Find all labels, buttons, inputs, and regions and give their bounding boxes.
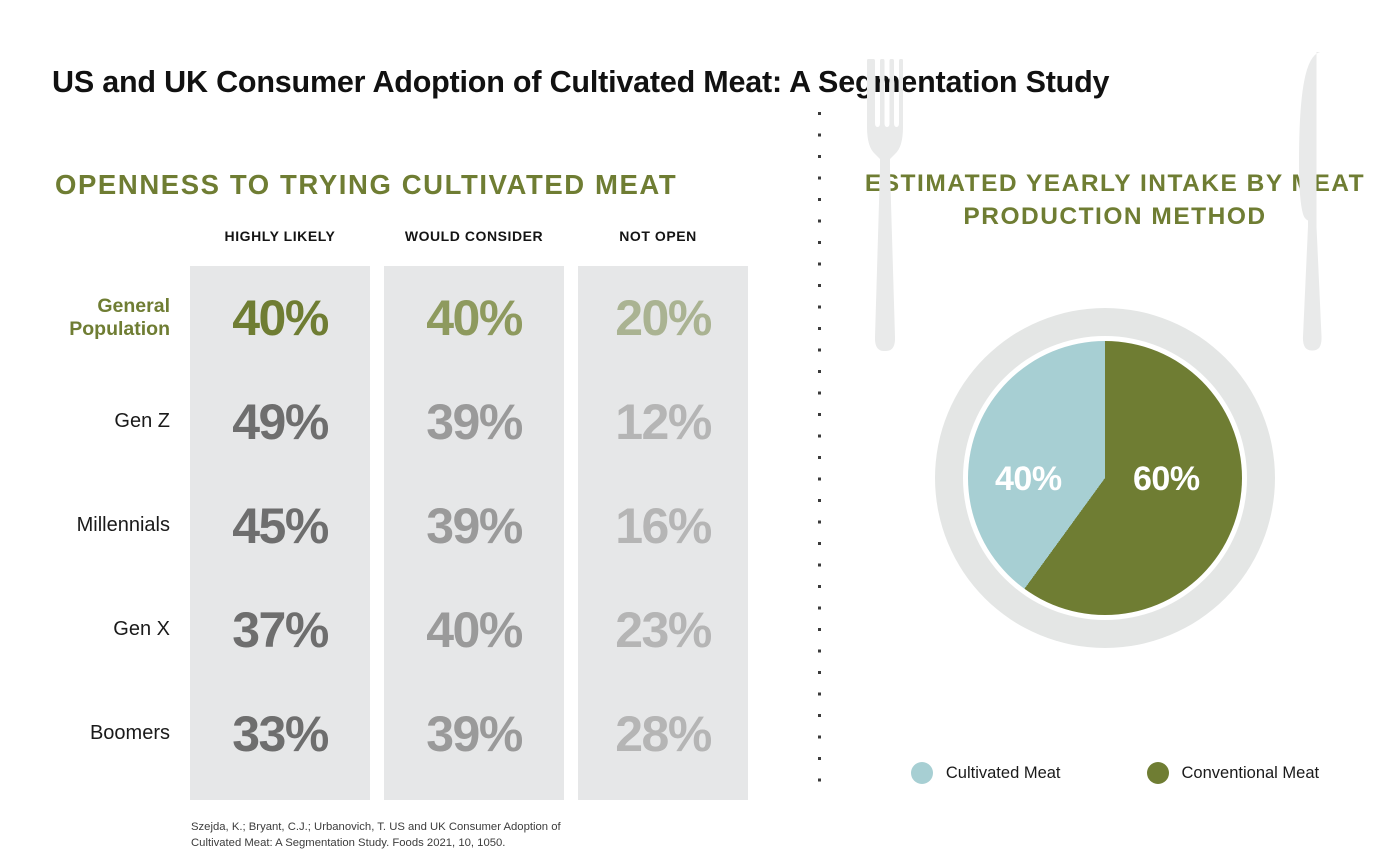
value-cell: 28% xyxy=(578,709,748,759)
value-cell: 40% xyxy=(190,293,370,343)
row-label-gen-z: Gen Z xyxy=(10,410,170,434)
value-cell: 40% xyxy=(384,605,564,655)
intake-panel: ESTIMATED YEARLY INTAKE BY MEAT PRODUCTI… xyxy=(830,0,1400,841)
value-cell: 49% xyxy=(190,397,370,447)
value-cell: 37% xyxy=(190,605,370,655)
infographic-page: US and UK Consumer Adoption of Cultivate… xyxy=(0,0,1400,841)
pie-legend: Cultivated MeatConventional Meat xyxy=(830,762,1400,784)
value-cell: 39% xyxy=(384,501,564,551)
legend-label: Conventional Meat xyxy=(1182,764,1320,783)
legend-swatch-icon xyxy=(911,762,933,784)
column-header-highly-likely: HIGHLY LIKELY xyxy=(190,228,370,244)
row-label-general-population: GeneralPopulation xyxy=(10,295,170,341)
legend-swatch-icon xyxy=(1147,762,1169,784)
value-cell: 12% xyxy=(578,397,748,447)
value-cell: 16% xyxy=(578,501,748,551)
table-row: GeneralPopulation40%40%20% xyxy=(0,266,800,370)
openness-section-title: OPENNESS TO TRYING CULTIVATED MEAT xyxy=(55,169,677,201)
legend-item: Conventional Meat xyxy=(1147,762,1320,784)
value-cell: 23% xyxy=(578,605,748,655)
vertical-dotted-divider xyxy=(818,112,821,800)
table-row: Boomers33%39%28% xyxy=(0,682,800,786)
row-label-millennials: Millennials xyxy=(10,514,170,538)
knife-icon xyxy=(1292,50,1328,355)
pie-chart: 40% 60% xyxy=(935,308,1275,648)
value-cell: 39% xyxy=(384,397,564,447)
pie-slice-label-cultivated: 40% xyxy=(995,460,1062,499)
value-cell: 40% xyxy=(384,293,564,343)
column-header-would-consider: WOULD CONSIDER xyxy=(384,228,564,244)
value-cell: 33% xyxy=(190,709,370,759)
fork-icon xyxy=(862,55,908,355)
legend-item: Cultivated Meat xyxy=(911,762,1061,784)
value-cell: 39% xyxy=(384,709,564,759)
openness-panel: OPENNESS TO TRYING CULTIVATED MEAT HIGHL… xyxy=(0,0,800,841)
row-label-boomers: Boomers xyxy=(10,722,170,746)
table-row: Gen X37%40%23% xyxy=(0,578,800,682)
table-row: Gen Z49%39%12% xyxy=(0,370,800,474)
row-label-gen-x: Gen X xyxy=(10,618,170,642)
legend-label: Cultivated Meat xyxy=(946,764,1061,783)
table-row: Millennials45%39%16% xyxy=(0,474,800,578)
column-header-not-open: NOT OPEN xyxy=(578,228,738,244)
value-cell: 20% xyxy=(578,293,748,343)
value-cell: 45% xyxy=(190,501,370,551)
source-citation: Szejda, K.; Bryant, C.J.; Urbanovich, T.… xyxy=(191,820,611,851)
pie-slice-label-conventional: 60% xyxy=(1133,460,1200,499)
